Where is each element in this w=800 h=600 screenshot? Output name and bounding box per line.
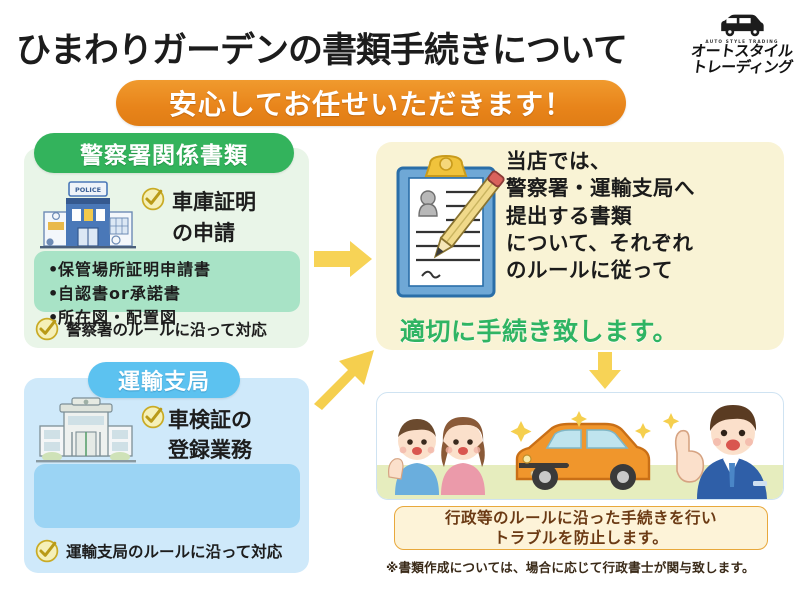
- police-card-badge-label: 警察署関係書類: [80, 136, 248, 170]
- police-heading-line-1: 車庫証明: [172, 186, 256, 216]
- salesman-pointing-icon: [657, 395, 777, 499]
- main-message-line: 当店では、: [506, 148, 786, 175]
- check-circle-icon: [140, 404, 166, 430]
- transport-footnote-label: 運輸支局のルールに沿って対応: [66, 540, 282, 562]
- police-documents-list: •保管場所証明申請書 •自認書or承諾書 •所在図・配置図: [34, 251, 300, 312]
- arrow-up-right-icon: [306, 344, 384, 414]
- car-icon: [716, 12, 768, 38]
- main-message-line: について、それぞれ: [506, 230, 786, 257]
- infographic-root: ひまわりガーデンの書類手続きについて AUTO STYLE TRADING オー…: [0, 0, 800, 600]
- main-message-text: 当店では、 警察署・運輸支局へ 提出する書類 について、それぞれ のルールに従っ…: [506, 148, 786, 284]
- transport-heading-line-2: 登録業務: [168, 434, 252, 464]
- company-logo: AUTO STYLE TRADING オートスタイル トレーディング: [690, 12, 794, 82]
- illustration-card: [376, 392, 784, 500]
- check-circle-icon: [140, 186, 166, 212]
- assurance-banner: 安心してお任せいただきます！: [116, 80, 626, 126]
- caption-box: 行政等のルールに沿った手続きを行い トラブルを防止します。: [394, 506, 768, 550]
- police-station-icon: POLICE: [36, 176, 140, 252]
- orange-car-icon: [507, 407, 657, 499]
- disclaimer-text: ※書類作成については、場合に応じて行政書士が関与致します。: [386, 557, 796, 576]
- police-card-badge: 警察署関係書類: [34, 133, 294, 173]
- police-footnote: 警察署のルールに沿って対応: [34, 316, 267, 342]
- svg-text:POLICE: POLICE: [75, 186, 101, 194]
- transport-card-badge-label: 運輸支局: [118, 364, 210, 396]
- clipboard-pencil-icon: [392, 154, 508, 304]
- list-item: •保管場所証明申請書: [48, 256, 300, 280]
- main-message-line: 警察署・運輸支局へ: [506, 175, 786, 202]
- arrow-down-icon: [588, 352, 622, 390]
- government-building-icon: [34, 396, 138, 466]
- caption-line-2: トラブルを防止します。: [445, 528, 717, 548]
- list-item: •自認書or承諾書: [48, 280, 300, 304]
- transport-card-badge: 運輸支局: [88, 362, 240, 398]
- page-title: ひまわりガーデンの書類手続きについて: [16, 22, 696, 73]
- police-footnote-label: 警察署のルールに沿って対応: [66, 318, 267, 340]
- arrow-right-icon: [312, 238, 374, 280]
- transport-documents-box: 必要書類 { •印鑑証明 •委任状 •車庫証明: [34, 464, 300, 528]
- caption-text: 行政等のルールに沿った手続きを行い トラブルを防止します。: [445, 508, 717, 549]
- assurance-banner-label: 安心してお任せいただきます！: [169, 83, 573, 123]
- caption-line-1: 行政等のルールに沿った手続きを行い: [445, 508, 717, 528]
- logo-line-2: トレーディング: [691, 60, 793, 76]
- main-message-highlight: 適切に手続き致します。: [400, 312, 780, 348]
- check-circle-icon: [34, 538, 60, 564]
- police-heading-line-2: の申請: [172, 217, 235, 247]
- transport-footnote: 運輸支局のルールに沿って対応: [34, 538, 282, 564]
- sparkle-icon: [663, 413, 679, 429]
- main-message-line: 提出する書類: [506, 203, 786, 230]
- check-circle-icon: [34, 316, 60, 342]
- happy-couple-icon: [387, 403, 497, 495]
- transport-heading-line-1: 車検証の: [168, 404, 252, 434]
- main-message-line: のルールに従って: [506, 257, 786, 284]
